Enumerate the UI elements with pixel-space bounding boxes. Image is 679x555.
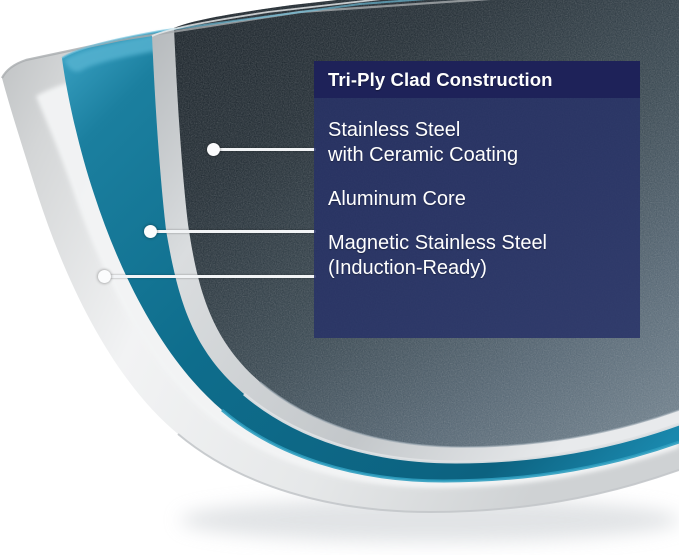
- layer-label-line-1: Aluminum Core: [328, 187, 630, 212]
- layer-label-line-1: Stainless Steel: [328, 118, 630, 143]
- callout-line-aluminum-core: [151, 230, 316, 233]
- layer-label-line-1: Magnetic Stainless Steel: [328, 231, 630, 256]
- callout-line-magnetic-stainless: [105, 275, 316, 278]
- callout-dot-aluminum-core: [144, 225, 157, 238]
- layer-label-line-2: (Induction-Ready): [328, 256, 630, 281]
- panel-header: Tri-Ply Clad Construction: [314, 61, 640, 98]
- panel-title: Tri-Ply Clad Construction: [328, 69, 553, 91]
- layer-label-aluminum-core: Aluminum Core: [328, 187, 630, 212]
- layer-label-magnetic-stainless: Magnetic Stainless Steel (Induction-Read…: [328, 231, 630, 281]
- callout-line-stainless-ceramic: [214, 148, 316, 151]
- product-illustration: Tri-Ply Clad Construction Stainless Stee…: [0, 0, 679, 555]
- layer-label-line-2: with Ceramic Coating: [328, 143, 630, 168]
- layer-label-stainless-ceramic: Stainless Steel with Ceramic Coating: [328, 118, 630, 168]
- callout-dot-stainless-ceramic: [207, 143, 220, 156]
- panel-body: Stainless Steel with Ceramic Coating Alu…: [314, 98, 640, 281]
- construction-info-panel: Tri-Ply Clad Construction Stainless Stee…: [314, 61, 640, 338]
- callout-dot-magnetic-stainless: [98, 270, 111, 283]
